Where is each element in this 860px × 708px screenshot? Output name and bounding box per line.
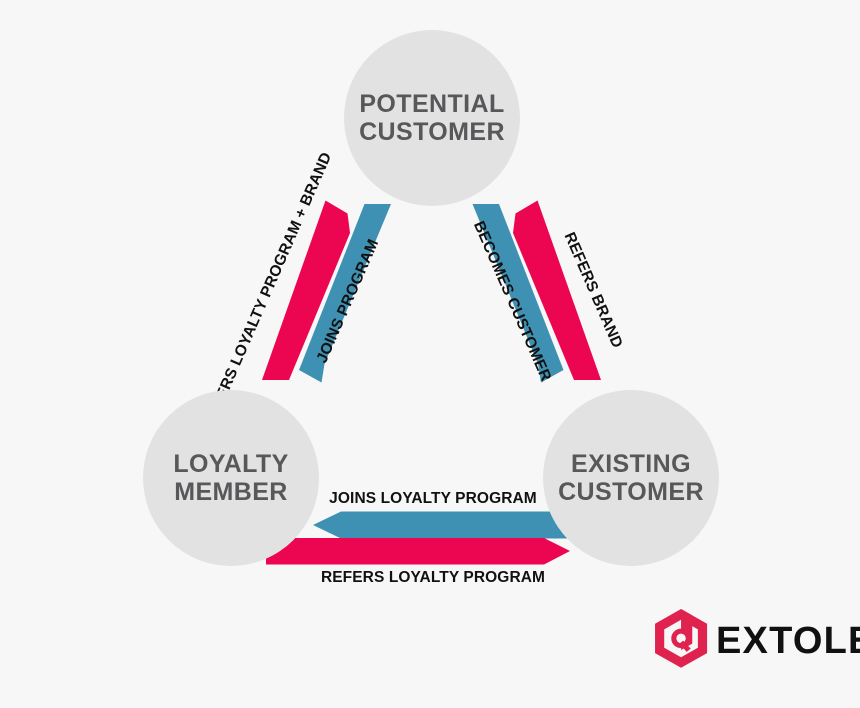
arrow-shape-blue-left [313, 512, 570, 539]
node-existing-customer[interactable]: EXISTING CUSTOMER [543, 390, 719, 566]
node-label-potential-customer-line1: POTENTIAL [359, 90, 504, 118]
node-label-existing-customer-line1: EXISTING [571, 450, 691, 478]
extole-wordmark: EXTOLE [716, 620, 860, 662]
node-label-existing-customer-line2: CUSTOMER [558, 478, 704, 506]
node-label-potential-customer-line2: CUSTOMER [359, 118, 505, 146]
diagram-canvas: REFERS LOYALTY PROGRAM + BRAND JOINS PRO… [0, 0, 860, 708]
edge-label-refers-loyalty-program: REFERS LOYALTY PROGRAM [321, 569, 545, 586]
node-loyalty-member[interactable]: LOYALTY MEMBER [143, 390, 319, 566]
node-label-loyalty-member-line2: MEMBER [174, 478, 288, 506]
node-label-loyalty-member-line1: LOYALTY [173, 450, 288, 478]
hexagon-inner-dot-hole [676, 634, 685, 643]
edge-label-joins-loyalty-program: JOINS LOYALTY PROGRAM [329, 490, 537, 507]
node-potential-customer[interactable]: POTENTIAL CUSTOMER [344, 30, 520, 206]
arrow-shape-pink-right [266, 538, 570, 565]
edge-joins-loyalty-program: JOINS LOYALTY PROGRAM [313, 490, 570, 539]
loyalty-referral-cycle-diagram: REFERS LOYALTY PROGRAM + BRAND JOINS PRO… [0, 0, 860, 708]
